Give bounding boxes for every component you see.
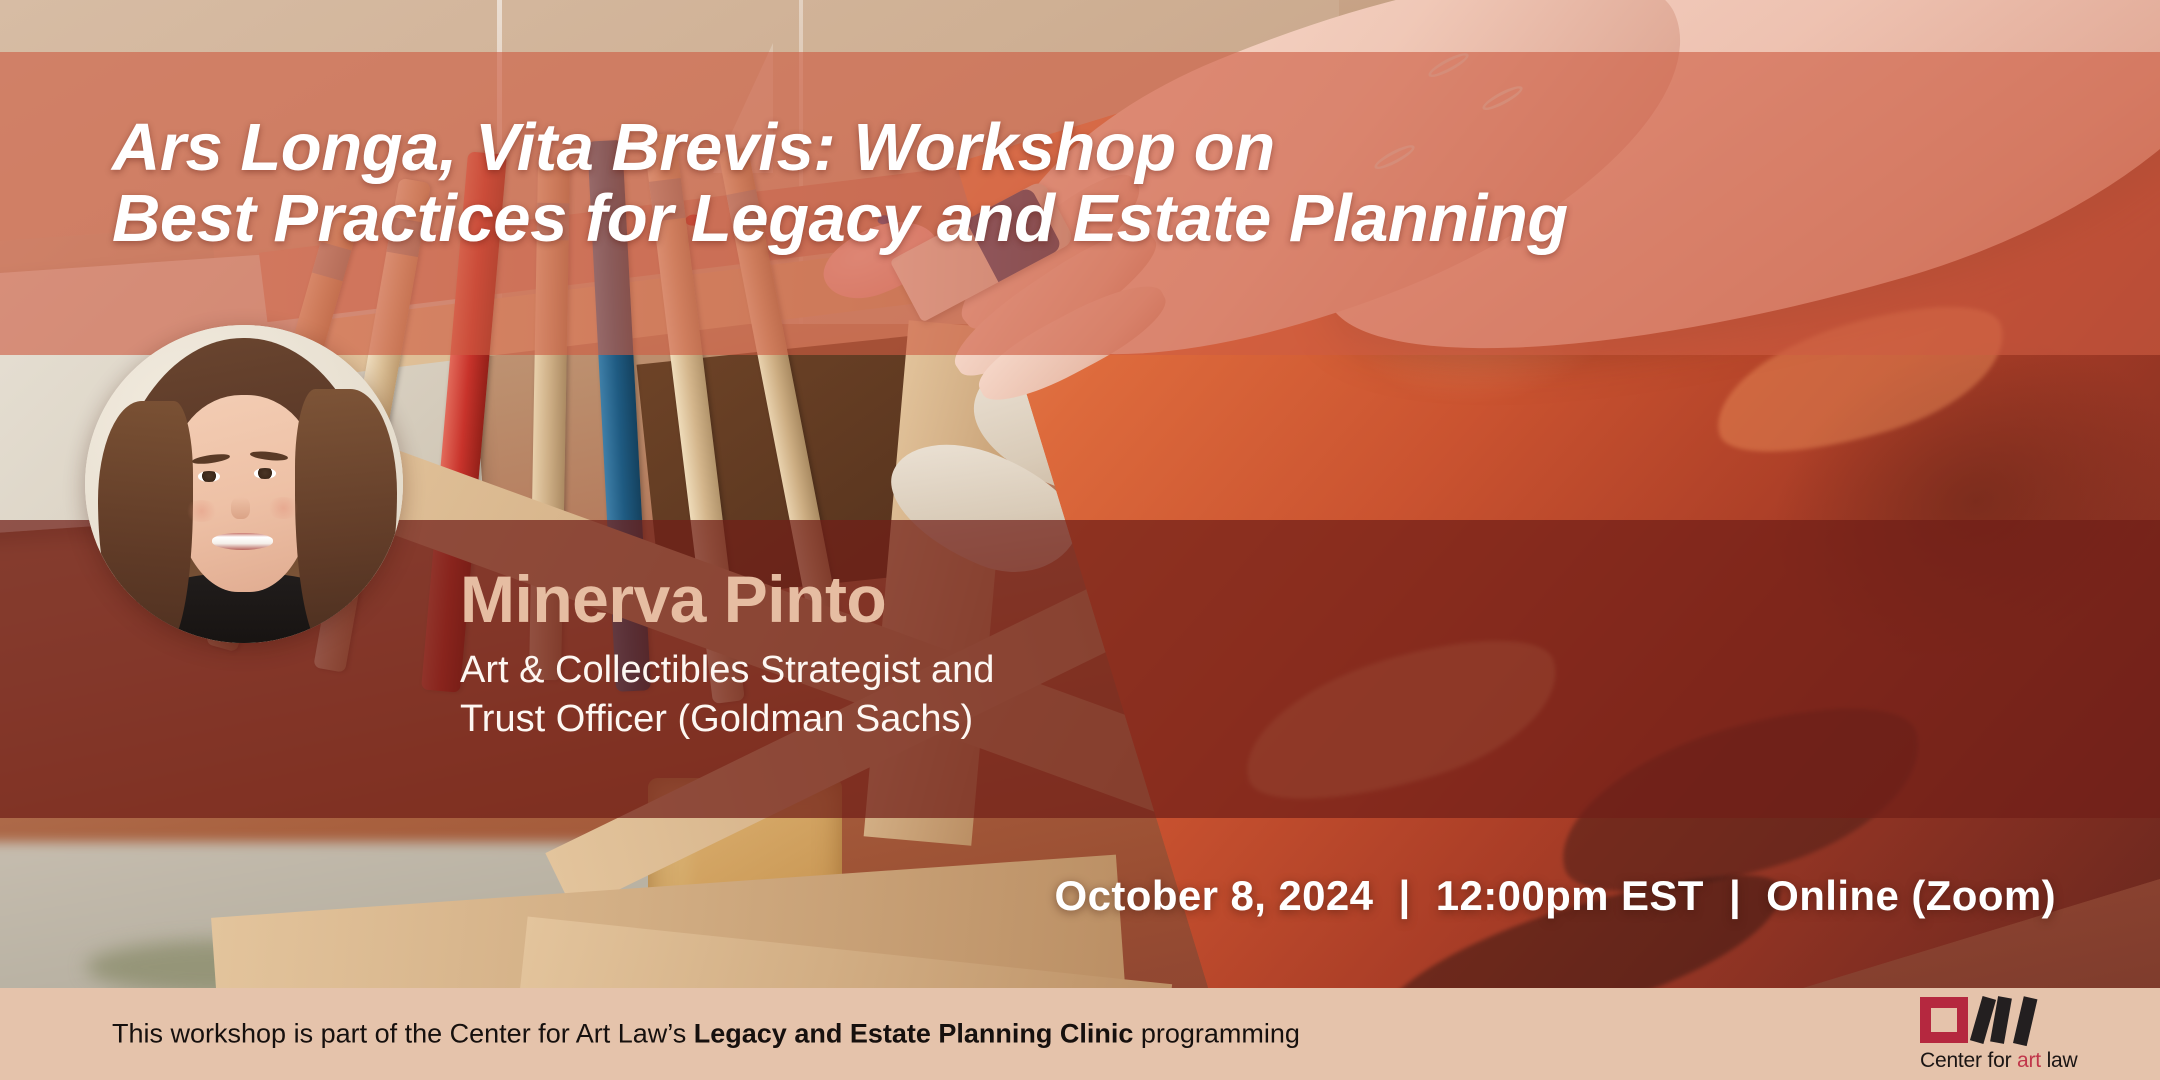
footer-note-prefix: This workshop is part of the Center for … — [112, 1019, 694, 1049]
speaker-portrait — [85, 325, 403, 643]
portrait-smile — [212, 533, 272, 550]
speaker-info: Minerva Pinto Art & Collectibles Strateg… — [460, 566, 1660, 743]
logo-book-bar-tilted — [2013, 996, 2037, 1046]
portrait-nose — [231, 497, 250, 519]
detail-separator: | — [1385, 872, 1423, 920]
portrait-hair-left — [98, 401, 193, 643]
title-line-2: Best Practices for Legacy and Estate Pla… — [112, 183, 2012, 254]
speaker-role-line-2: Trust Officer (Goldman Sachs) — [460, 695, 1660, 744]
speaker-role-line-1: Art & Collectibles Strategist and — [460, 646, 1660, 695]
event-location: Online (Zoom) — [1766, 872, 2056, 919]
event-time: 12:00pm EST — [1436, 872, 1704, 919]
footer-note-clinic: Legacy and Estate Planning Clinic — [694, 1019, 1134, 1049]
footer-bar: This workshop is part of the Center for … — [0, 988, 2160, 1080]
speaker-name: Minerva Pinto — [460, 566, 1660, 632]
footer-note: This workshop is part of the Center for … — [112, 1019, 1300, 1050]
portrait-cheek — [266, 497, 301, 519]
center-for-art-law-logo[interactable]: Center for art law — [1920, 995, 2052, 1073]
logo-wordmark: Center for art law — [1920, 1049, 2052, 1073]
logo-word-center-for: Center for — [1920, 1049, 2017, 1072]
title-line-1: Ars Longa, Vita Brevis: Workshop on — [112, 112, 2012, 183]
event-details-line: October 8, 2024 | 12:00pm EST | Online (… — [1055, 872, 2056, 920]
portrait-cheek — [184, 500, 219, 522]
logo-word-art: art — [2017, 1049, 2041, 1072]
event-promo-banner: Ars Longa, Vita Brevis: Workshop on Best… — [0, 0, 2160, 1080]
detail-separator: | — [1716, 872, 1754, 920]
logo-square-shape — [1920, 997, 1968, 1043]
portrait-eye — [254, 468, 276, 479]
event-title: Ars Longa, Vita Brevis: Workshop on Best… — [112, 112, 2012, 254]
books-logo-icon — [1920, 995, 2052, 1045]
logo-word-law: law — [2041, 1049, 2078, 1072]
portrait-hair-right — [295, 389, 397, 643]
footer-note-suffix: programming — [1133, 1019, 1300, 1049]
event-date: October 8, 2024 — [1055, 872, 1374, 919]
